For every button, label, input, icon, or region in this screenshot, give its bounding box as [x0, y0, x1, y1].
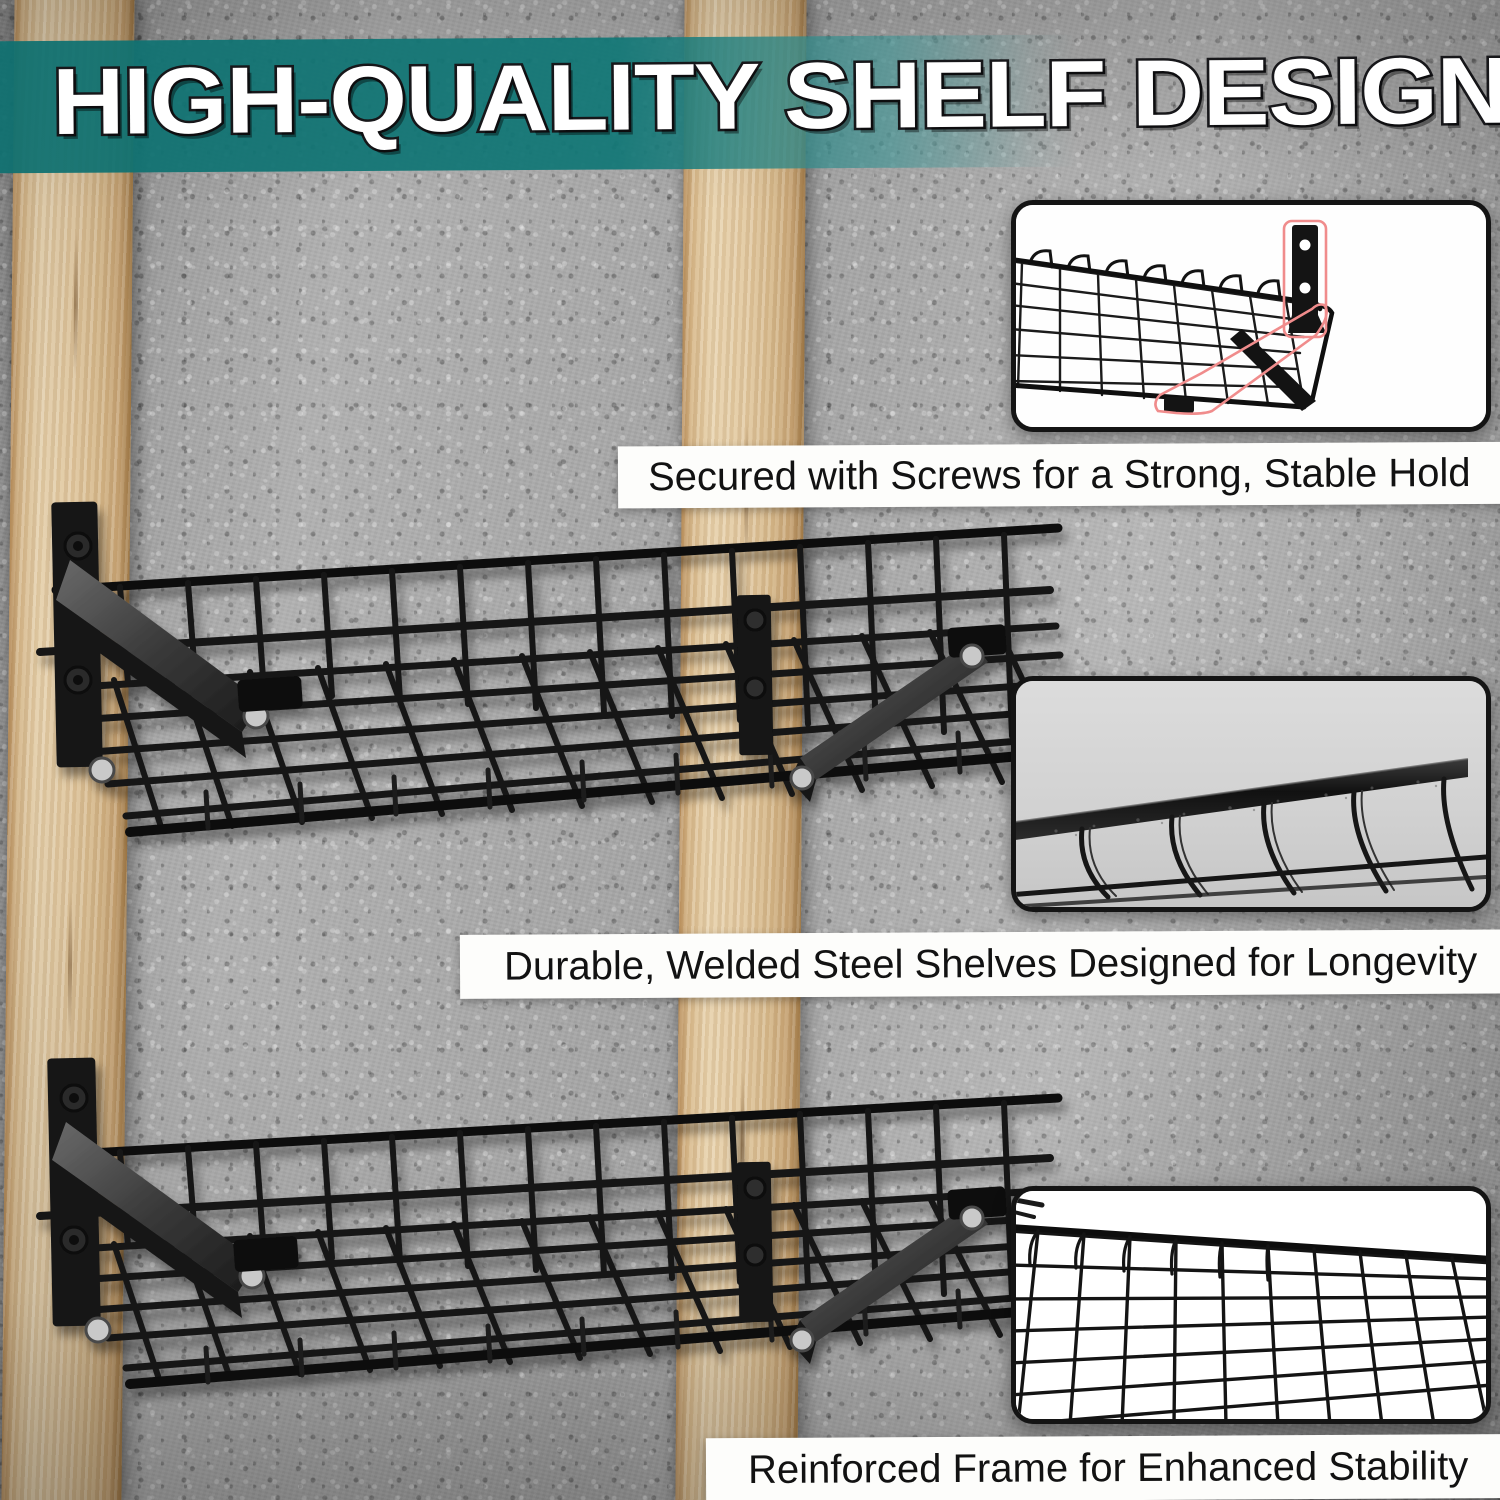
wire-mesh-icon — [1016, 1191, 1486, 1419]
caption-text: Reinforced Frame for Enhanced Stability — [748, 1446, 1469, 1490]
page-title: HIGH-QUALITY SHELF DESIGN — [52, 41, 1500, 152]
wire-shelf-lower — [10, 1040, 1090, 1370]
l-bracket-icon — [1016, 205, 1486, 427]
caption-reinforced-frame: Reinforced Frame for Enhanced Stability — [706, 1434, 1500, 1500]
inset-panel-mesh — [1011, 1186, 1491, 1424]
wire-shelf-lower-graphic — [10, 1040, 1090, 1370]
inset-panel-bracket — [1011, 200, 1491, 432]
caption-text: Secured with Screws for a Strong, Stable… — [648, 453, 1471, 497]
inset-panel-weld — [1011, 676, 1491, 912]
caption-secured-with-screws: Secured with Screws for a Strong, Stable… — [618, 442, 1500, 509]
product-marketing-image: HIGH-QUALITY SHELF DESIGN Secured with S… — [0, 0, 1500, 1500]
caption-durable-welded-steel: Durable, Welded Steel Shelves Designed f… — [460, 929, 1500, 999]
welded-rim-icon — [1016, 681, 1486, 907]
caption-text: Durable, Welded Steel Shelves Designed f… — [504, 942, 1477, 987]
